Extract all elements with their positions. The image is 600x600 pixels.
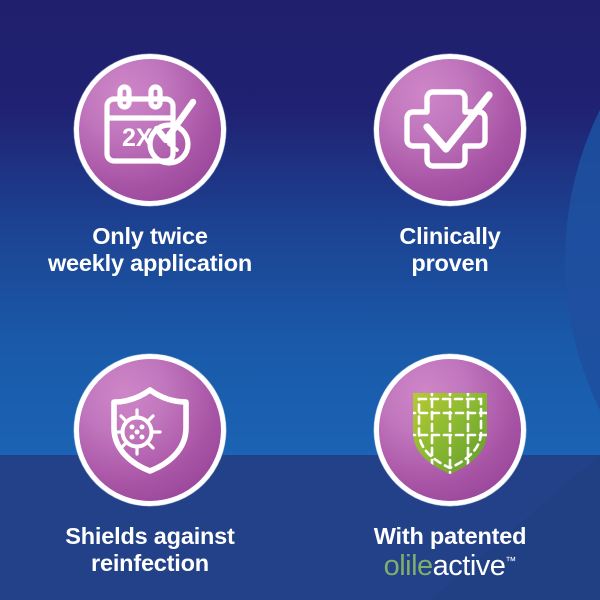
brand-olileactive: olileactive™ xyxy=(384,551,517,581)
feature-caption-twice-weekly: Only twice weekly application xyxy=(48,223,252,278)
brand-olile-text: olile xyxy=(384,550,433,582)
feature-badge-shields-reinfection xyxy=(74,354,226,506)
feature-badge-clinically-proven xyxy=(374,54,526,206)
feature-cell-patented: With patented olileactive™ xyxy=(300,300,600,600)
shield-virus-icon xyxy=(102,384,198,476)
feature-caption-clinically-proven: Clinically proven xyxy=(399,223,500,278)
feature-cell-twice-weekly: 2X Only twice weekly application xyxy=(0,0,300,300)
calendar-2x-label: 2X xyxy=(122,124,153,152)
feature-cell-shields-reinfection: Shields against reinfection xyxy=(0,300,300,600)
calendar-2x-clock-check-icon: 2X xyxy=(96,82,204,178)
brand-active-text: active xyxy=(433,550,506,582)
feature-badge-twice-weekly: 2X xyxy=(74,54,226,206)
feature-grid: 2X Only twice weekly application Clinica… xyxy=(0,0,600,600)
feature-caption-patented: With patented xyxy=(374,523,527,550)
feature-caption-shields-reinfection: Shields against reinfection xyxy=(65,523,234,578)
trademark-symbol: ™ xyxy=(505,556,516,568)
feature-cell-clinically-proven: Clinically proven xyxy=(300,0,600,300)
feature-badge-patented-olileactive xyxy=(374,354,526,506)
green-quilted-shield-icon xyxy=(400,380,500,480)
medical-cross-check-icon xyxy=(401,83,499,177)
